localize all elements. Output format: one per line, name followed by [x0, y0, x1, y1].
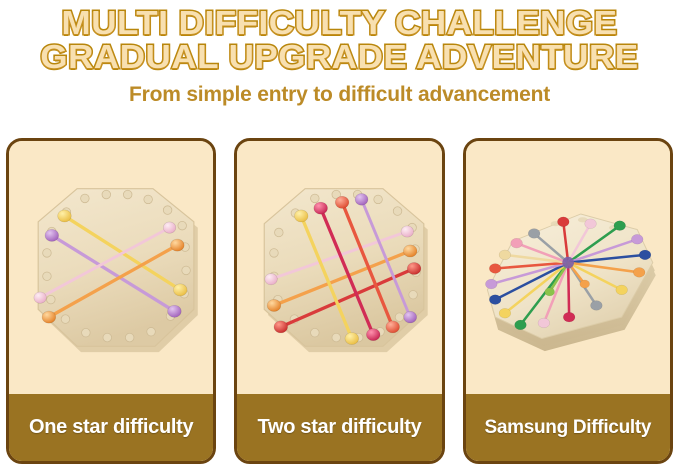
difficulty-card-one-star[interactable]: One star difficulty [6, 138, 216, 464]
card-label-one-star: One star difficulty [9, 394, 213, 461]
subheadline: From simple entry to difficult advanceme… [0, 83, 679, 107]
board-image-two-star [237, 141, 441, 394]
banner-header: MULTI DIFFICULTY CHALLENGE GRADUAL UPGRA… [0, 0, 679, 130]
board-image-samsung [466, 141, 670, 394]
card-label-two-star: Two star difficulty [237, 394, 441, 461]
difficulty-card-row: One star difficulty [0, 138, 679, 464]
headline-line-1: MULTI DIFFICULTY CHALLENGE [0, 6, 679, 39]
product-feature-banner: MULTI DIFFICULTY CHALLENGE GRADUAL UPGRA… [0, 0, 679, 469]
difficulty-card-samsung[interactable]: Samsung Difficulty [463, 138, 673, 464]
card-label-samsung: Samsung Difficulty [466, 394, 670, 461]
geoboard-illustration-samsung [466, 141, 670, 394]
board-image-one-star [9, 141, 213, 394]
geoboard-illustration-one-star [9, 141, 213, 394]
geoboard-illustration-two-star [237, 141, 441, 394]
difficulty-card-two-star[interactable]: Two star difficulty [234, 138, 444, 464]
headline-line-2: GRADUAL UPGRADE ADVENTURE [0, 40, 679, 73]
